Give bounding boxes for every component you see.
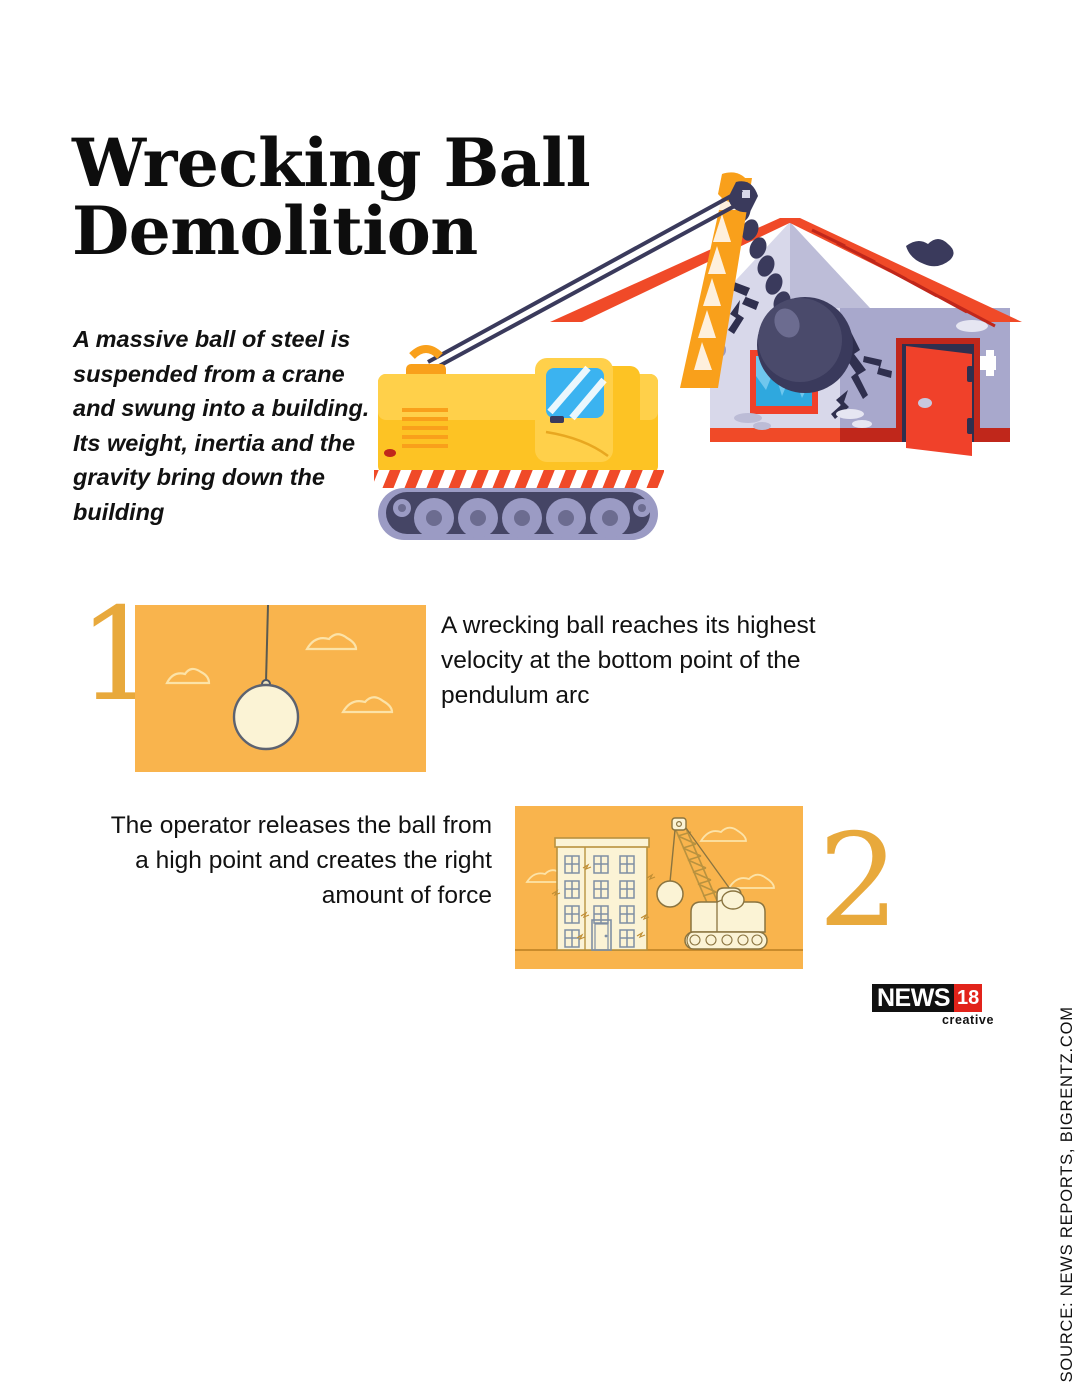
subtitle-text: A massive ball of steel is suspended fro… — [73, 322, 383, 529]
step-1-illustration-panel — [135, 605, 426, 772]
crane-and-house-illustration — [350, 160, 1050, 560]
step-2-number: 2 — [818, 818, 899, 946]
building-graphic — [552, 838, 655, 950]
news18-logo[interactable]: NEWS 18 creative — [872, 984, 994, 1028]
step-2-illustration-panel — [515, 806, 803, 969]
logo-18-badge: 18 — [954, 984, 982, 1012]
logo-creative-text: creative — [872, 1013, 994, 1027]
logo-news-text: NEWS — [872, 984, 954, 1012]
crane-graphic — [374, 172, 758, 540]
step-2-text: The operator releases the ball from a hi… — [110, 809, 492, 913]
source-note: SOURCE: NEWS REPORTS, BIGRENTZ.COM — [1058, 1006, 1077, 1382]
step-1-text: A wrecking ball reaches its highest velo… — [441, 609, 816, 713]
